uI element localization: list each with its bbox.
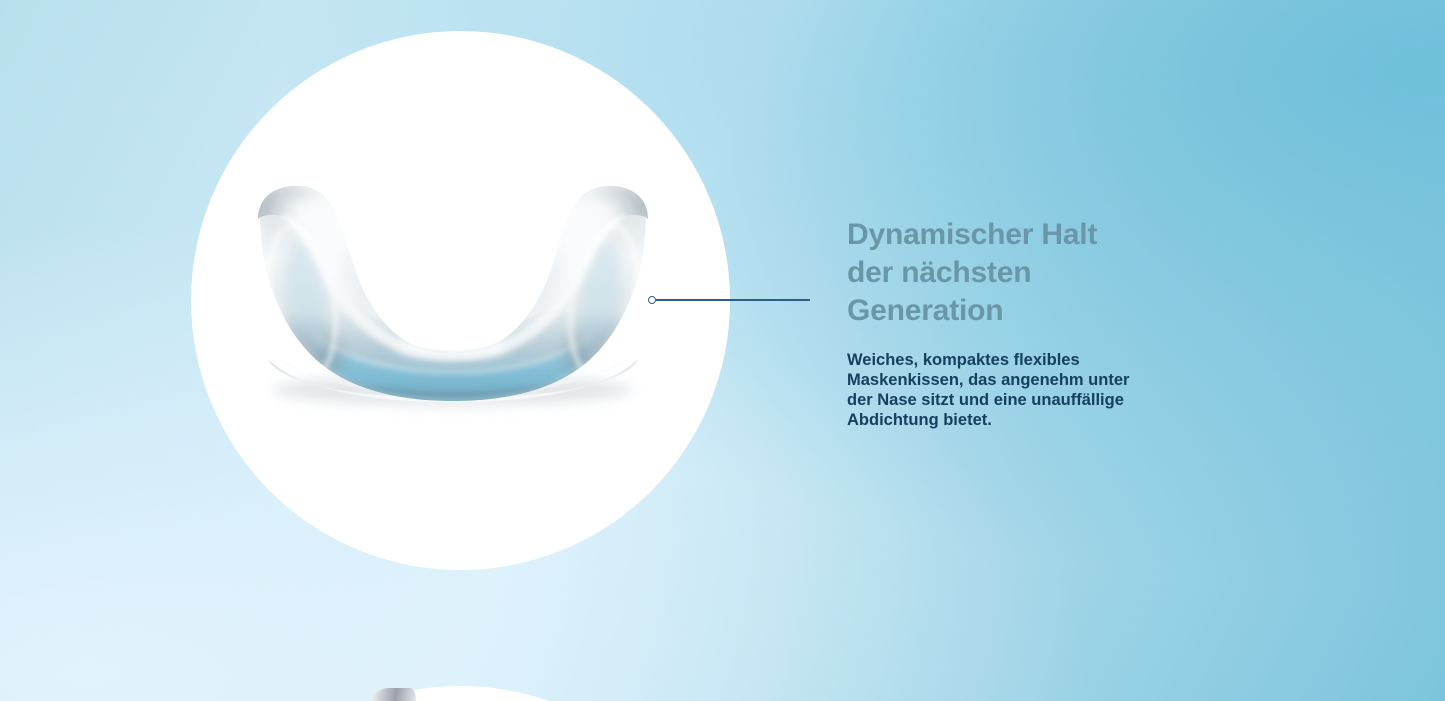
product-circle-secondary [191,686,730,701]
cpap-nasal-mask-cushion-image [256,183,650,405]
product-secondary-object [370,688,416,701]
promo-stage: Dynamischer Halt der nächsten Generation… [0,0,1445,701]
callout-node-icon [648,296,656,304]
callout-connector-line [656,299,810,301]
callout-text-block: Dynamischer Halt der nächsten Generation… [847,216,1132,430]
callout-body: Weiches, kompaktes flexibles Maskenkisse… [847,350,1132,430]
callout-title: Dynamischer Halt der nächsten Generation [847,216,1132,330]
